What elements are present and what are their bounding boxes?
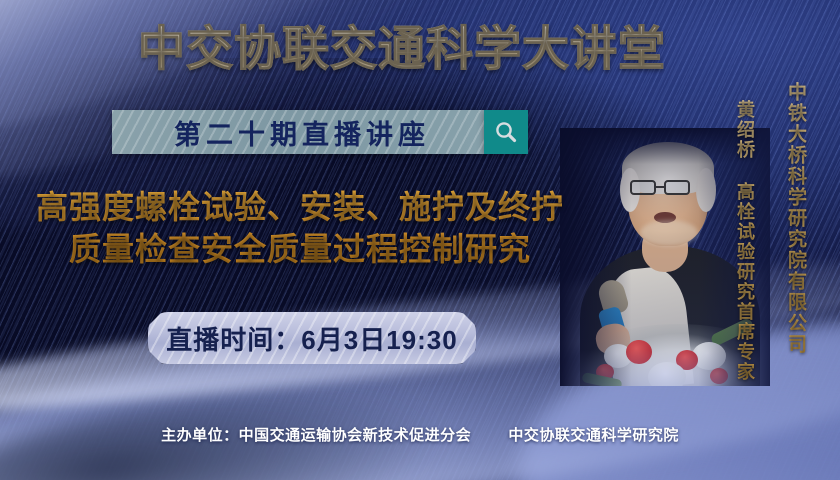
organizer-footer: 主办单位：中国交通运输协会新技术促进分会 中交协联交通科学研究院: [0, 424, 840, 445]
lecture-topic-line-1: 高强度螺栓试验、安装、施拧及终拧: [36, 189, 564, 225]
speaker-name-vertical: 黄绍桥 高栓试验研究首席专家: [732, 100, 758, 382]
broadcast-time-badge: 直播时间：6月3日19:30: [148, 312, 476, 364]
organizer-secondary: 中交协联交通科学研究院: [508, 427, 679, 444]
broadcast-time-label: 直播时间：6月3日19:30: [166, 320, 457, 357]
lecture-topic: 高强度螺栓试验、安装、施拧及终拧 质量检查安全质量过程控制研究: [0, 186, 600, 270]
lecture-topic-line-2: 质量检查安全质量过程控制研究: [0, 228, 600, 270]
speaker-organization-vertical: 中铁大桥科学研究院有限公司: [782, 82, 809, 355]
page-title: 中交协联交通科学大讲堂: [138, 24, 666, 74]
episode-banner: 第二十期直播讲座: [112, 110, 484, 154]
live-stream-poster: 中交协联交通科学大讲堂 第二十期直播讲座 高强度螺栓试验、安装、施拧及终拧 质量…: [0, 0, 840, 480]
search-button[interactable]: [484, 110, 528, 154]
organizer-primary: 主办单位：中国交通运输协会新技术促进分会: [161, 427, 471, 444]
episode-banner-label: 第二十期直播讲座: [174, 113, 430, 152]
search-icon: [493, 119, 519, 145]
